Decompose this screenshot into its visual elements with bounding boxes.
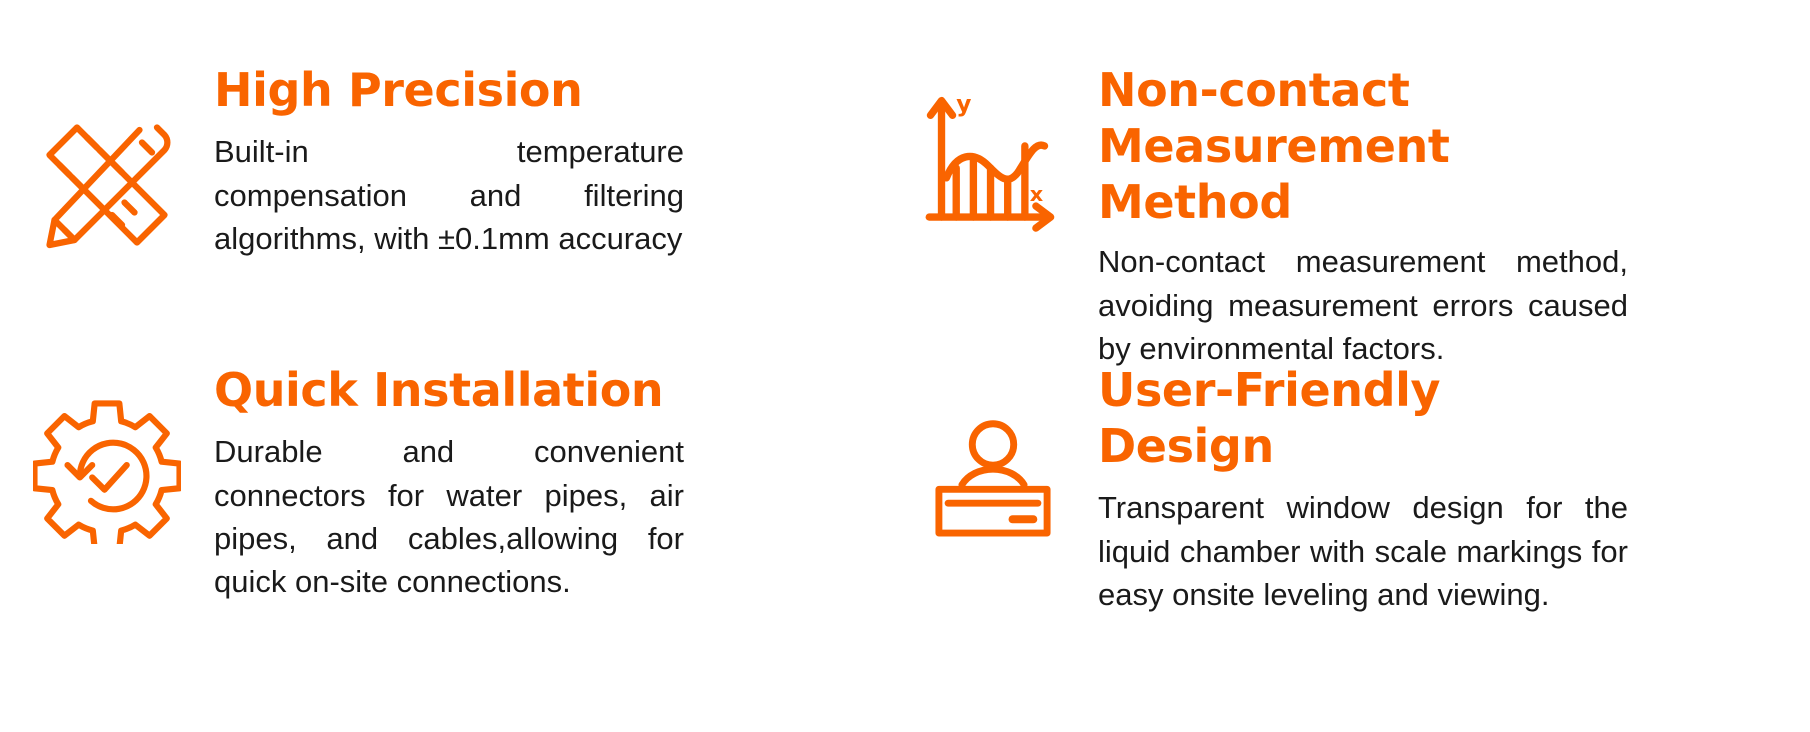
feature-title-line-1: Non-contact	[1098, 62, 1628, 118]
feature-title: Non-contact Measurement Method	[1098, 62, 1628, 230]
feature-title: User-Friendly Design	[1098, 362, 1628, 474]
person-desk-icon	[888, 362, 1098, 540]
feature-body: User-Friendly Design Transparent window …	[1098, 362, 1658, 616]
feature-card-user-friendly-design: User-Friendly Design Transparent window …	[880, 350, 1810, 732]
feature-card-non-contact-measurement: y x Non-contact Measurement Method Non-c…	[880, 0, 1810, 350]
feature-card-quick-installation: Quick Installation Durable and convenien…	[0, 350, 880, 732]
feature-description: Transparent window design for the liquid…	[1098, 486, 1628, 616]
feature-title: High Precision	[214, 62, 684, 118]
feature-body: Non-contact Measurement Method Non-conta…	[1098, 62, 1658, 371]
ruler-pencil-icon	[0, 62, 214, 260]
feature-body: Quick Installation Durable and convenien…	[214, 362, 714, 604]
x-axis-label: x	[1030, 182, 1044, 206]
y-axis-label: y	[956, 91, 971, 118]
feature-card-high-precision: High Precision Built-in temperature comp…	[0, 0, 880, 350]
feature-title-line-2: Measurement Method	[1098, 118, 1628, 230]
feature-description: Built-in temperature compensation and fi…	[214, 130, 684, 260]
gear-refresh-check-icon	[0, 362, 214, 544]
feature-title: Quick Installation	[214, 362, 684, 418]
bar-chart-axes-icon: y x	[888, 62, 1098, 232]
feature-body: High Precision Built-in temperature comp…	[214, 62, 714, 260]
features-grid: High Precision Built-in temperature comp…	[0, 0, 1810, 732]
feature-description: Durable and convenient connectors for wa…	[214, 430, 684, 604]
